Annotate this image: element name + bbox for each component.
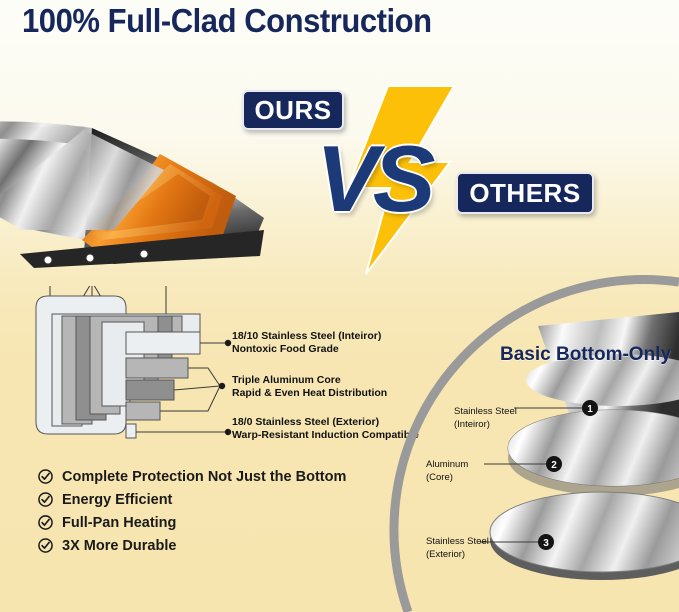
layer-callout-interior-line1: 18/10 Stainless Steel (Inteiror)	[232, 330, 381, 342]
check-circle-icon	[38, 469, 53, 484]
benefit-label: 3X More Durable	[62, 538, 176, 554]
disc-label-exterior-line1: Stainless Steel	[426, 536, 489, 547]
layer-tap-point-2	[86, 254, 94, 262]
disc-marker-3-number: 3	[543, 538, 549, 549]
page-title: 100% Full-Clad Construction	[22, 2, 432, 40]
benefit-label: Full-Pan Heating	[62, 515, 176, 531]
others-panel-title: Basic Bottom-Only	[500, 344, 671, 366]
layer-callout-interior: 18/10 Stainless Steel (Inteiror) Nontoxi…	[232, 330, 381, 357]
layer-callout-exterior-line1: 18/0 Stainless Steel (Exterior)	[232, 416, 379, 428]
check-circle-icon	[38, 492, 53, 507]
check-circle-icon	[38, 538, 53, 553]
layer-tap-point-3	[140, 250, 148, 258]
benefit-label: Energy Efficient	[62, 492, 172, 508]
others-panel: 1 2 3 Basic Bottom-Only Stainless Steel …	[388, 268, 679, 612]
layer-tongues	[126, 332, 200, 438]
disc-label-core-line1: Aluminum	[426, 459, 468, 470]
disc-label-interior: Stainless Steel (Inteiror)	[454, 405, 517, 432]
layer-tap-point-1	[44, 256, 52, 264]
disc-label-interior-line1: Stainless Steel	[454, 406, 517, 417]
benefit-item: Complete Protection Not Just the Bottom	[38, 466, 368, 487]
disc-marker-2-number: 2	[551, 460, 557, 471]
benefit-item: Energy Efficient	[38, 489, 368, 510]
disc-label-interior-line2: (Inteiror)	[454, 418, 517, 431]
benefit-label: Complete Protection Not Just the Bottom	[62, 469, 346, 485]
disc-label-core-line2: (Core)	[426, 471, 468, 484]
disc-marker-1-number: 1	[587, 404, 593, 415]
benefit-item: 3X More Durable	[38, 535, 368, 556]
benefit-item: Full-Pan Heating	[38, 512, 368, 533]
infographic-root: 100% Full-Clad Construction	[0, 0, 679, 612]
layer-leader-dots	[219, 340, 231, 435]
ours-badge: OURS	[242, 90, 344, 130]
others-badge: OTHERS	[456, 172, 594, 214]
callout-dot-3	[225, 429, 231, 435]
versus-comparison: VS OURS OTHERS	[238, 80, 613, 280]
disc-label-exterior: Stainless Steel (Exterior)	[426, 535, 489, 562]
check-circle-icon	[38, 515, 53, 530]
layer-callout-interior-line2: Nontoxic Food Grade	[232, 343, 381, 356]
tongue-core-c	[126, 402, 160, 420]
callout-dot-1	[225, 340, 231, 346]
layer-callout-core-line2: Rapid & Even Heat Distribution	[232, 387, 387, 400]
vs-label: VS	[316, 132, 429, 226]
tongue-core-a	[126, 358, 188, 378]
layer-callout-core: Triple Aluminum Core Rapid & Even Heat D…	[232, 374, 387, 401]
tongue-exterior	[126, 424, 136, 438]
pan-cross-section-illustration	[0, 78, 274, 288]
callout-dot-2	[219, 383, 225, 389]
tongue-core-b	[126, 380, 174, 400]
tongue-interior	[126, 332, 200, 354]
benefits-checklist: Complete Protection Not Just the Bottom …	[38, 466, 368, 558]
disc-label-core: Aluminum (Core)	[426, 458, 468, 485]
disc-label-exterior-line2: (Exterior)	[426, 548, 489, 561]
layer-callout-core-line1: Triple Aluminum Core	[232, 374, 341, 386]
